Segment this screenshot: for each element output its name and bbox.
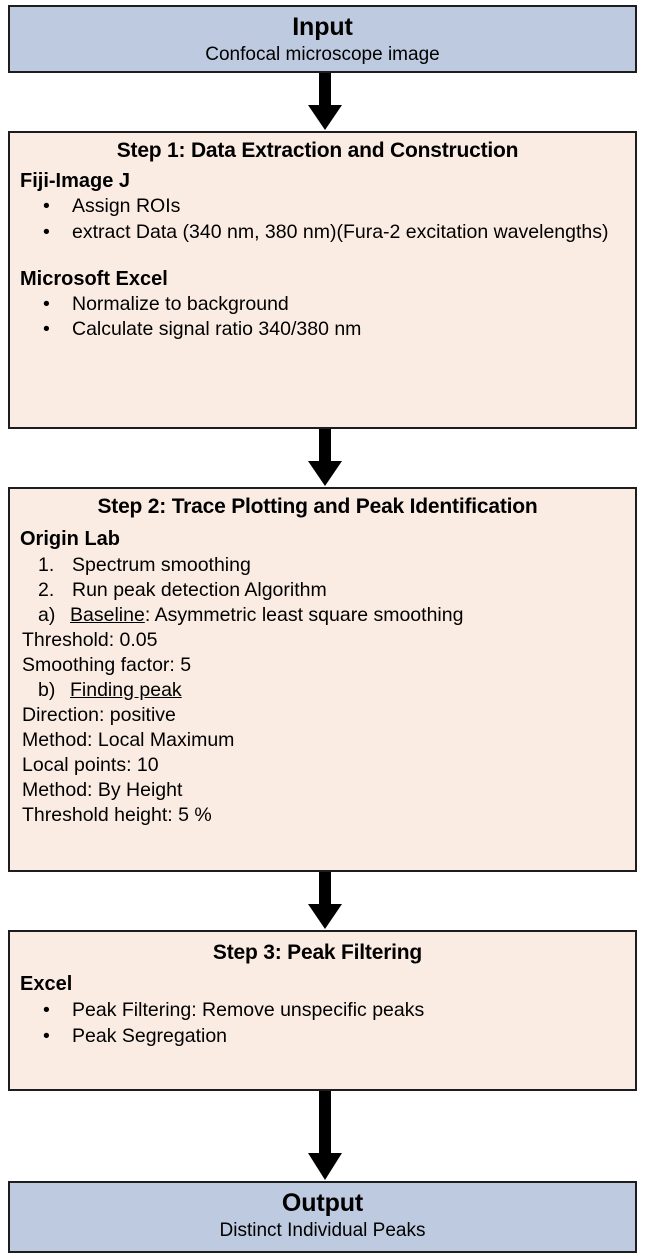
list-item-label: Peak Segregation xyxy=(72,1025,227,1047)
list-item: • Assign ROIs xyxy=(10,194,635,218)
step2-app: Origin Lab xyxy=(10,527,635,551)
detail-line: Threshold: 0.05 xyxy=(10,628,635,653)
list-marker: b) xyxy=(38,678,55,703)
list-marker: 2. xyxy=(38,578,54,603)
arrow-step2-step3 xyxy=(306,872,344,930)
list-item-emphasis: Finding peak xyxy=(70,679,182,701)
step1-group1-list: • Assign ROIs • extract Data (340 nm, 38… xyxy=(10,194,635,244)
list-item-label: : Asymmetric least square smoothing xyxy=(145,604,464,626)
list-item-label: Run peak detection Algorithm xyxy=(72,579,327,601)
detail-line: Local points: 10 xyxy=(10,753,635,778)
node-output: Output Distinct Individual Peaks xyxy=(8,1181,637,1253)
node-step2: Step 2: Trace Plotting and Peak Identifi… xyxy=(8,487,637,872)
bullet-icon: • xyxy=(43,292,50,316)
detail-line: Method: By Height xyxy=(10,778,635,803)
step3-title: Step 3: Peak Filtering xyxy=(10,932,635,965)
list-marker: a) xyxy=(38,603,55,628)
node-input: Input Confocal microscope image xyxy=(8,5,637,73)
arrow-input-step1 xyxy=(306,73,344,131)
step1-group2-list: • Normalize to background • Calculate si… xyxy=(10,292,635,342)
bullet-icon: • xyxy=(43,1024,50,1048)
list-item-label: Peak Filtering: Remove unspecific peaks xyxy=(72,999,424,1021)
detail-line: Method: Local Maximum xyxy=(10,728,635,753)
arrow-step3-output xyxy=(306,1091,344,1181)
step3-app: Excel xyxy=(10,972,635,996)
list-item-label: extract Data (340 nm, 380 nm)(Fura-2 exc… xyxy=(72,221,609,243)
output-subtitle: Distinct Individual Peaks xyxy=(10,1220,635,1242)
bullet-icon: • xyxy=(43,220,50,244)
bullet-icon: • xyxy=(43,998,50,1022)
detail-line: Direction: positive xyxy=(10,703,635,728)
step1-group2-app: Microsoft Excel xyxy=(10,267,635,291)
input-subtitle: Confocal microscope image xyxy=(10,44,635,66)
node-step1: Step 1: Data Extraction and Construction… xyxy=(8,131,637,429)
bullet-icon: • xyxy=(43,317,50,341)
step3-list: • Peak Filtering: Remove unspecific peak… xyxy=(10,998,635,1048)
step2-title: Step 2: Trace Plotting and Peak Identifi… xyxy=(10,489,635,519)
input-title: Input xyxy=(10,14,635,42)
spacer xyxy=(10,245,635,261)
list-item: • extract Data (340 nm, 380 nm)(Fura-2 e… xyxy=(10,220,635,244)
list-item: 2. Run peak detection Algorithm xyxy=(10,578,635,603)
list-item-label: Normalize to background xyxy=(72,293,289,315)
list-item: b) Finding peak xyxy=(10,678,635,703)
list-item: 1. Spectrum smoothing xyxy=(10,553,635,578)
list-marker: 1. xyxy=(38,553,54,578)
step1-group1-app: Fiji-Image J xyxy=(10,169,635,193)
list-item: a) Baseline: Asymmetric least square smo… xyxy=(10,603,635,628)
list-item: • Calculate signal ratio 340/380 nm xyxy=(10,317,635,341)
list-item-label: Calculate signal ratio 340/380 nm xyxy=(72,318,361,340)
list-item: • Peak Filtering: Remove unspecific peak… xyxy=(10,998,635,1022)
list-item: • Normalize to background xyxy=(10,292,635,316)
step2-line-list: 1. Spectrum smoothing 2. Run peak detect… xyxy=(10,553,635,827)
flowchart-canvas: Input Confocal microscope image Step 1: … xyxy=(0,0,645,1259)
detail-line: Threshold height: 5 % xyxy=(10,803,635,828)
detail-line: Smoothing factor: 5 xyxy=(10,653,635,678)
bullet-icon: • xyxy=(43,194,50,218)
list-item-label: Spectrum smoothing xyxy=(72,554,251,576)
list-item: • Peak Segregation xyxy=(10,1024,635,1048)
step1-title: Step 1: Data Extraction and Construction xyxy=(10,133,635,163)
output-title: Output xyxy=(10,1190,635,1218)
node-step3: Step 3: Peak Filtering Excel • Peak Filt… xyxy=(8,930,637,1091)
arrow-step1-step2 xyxy=(306,429,344,487)
list-item-label: Assign ROIs xyxy=(72,195,180,217)
list-item-emphasis: Baseline xyxy=(70,604,145,626)
